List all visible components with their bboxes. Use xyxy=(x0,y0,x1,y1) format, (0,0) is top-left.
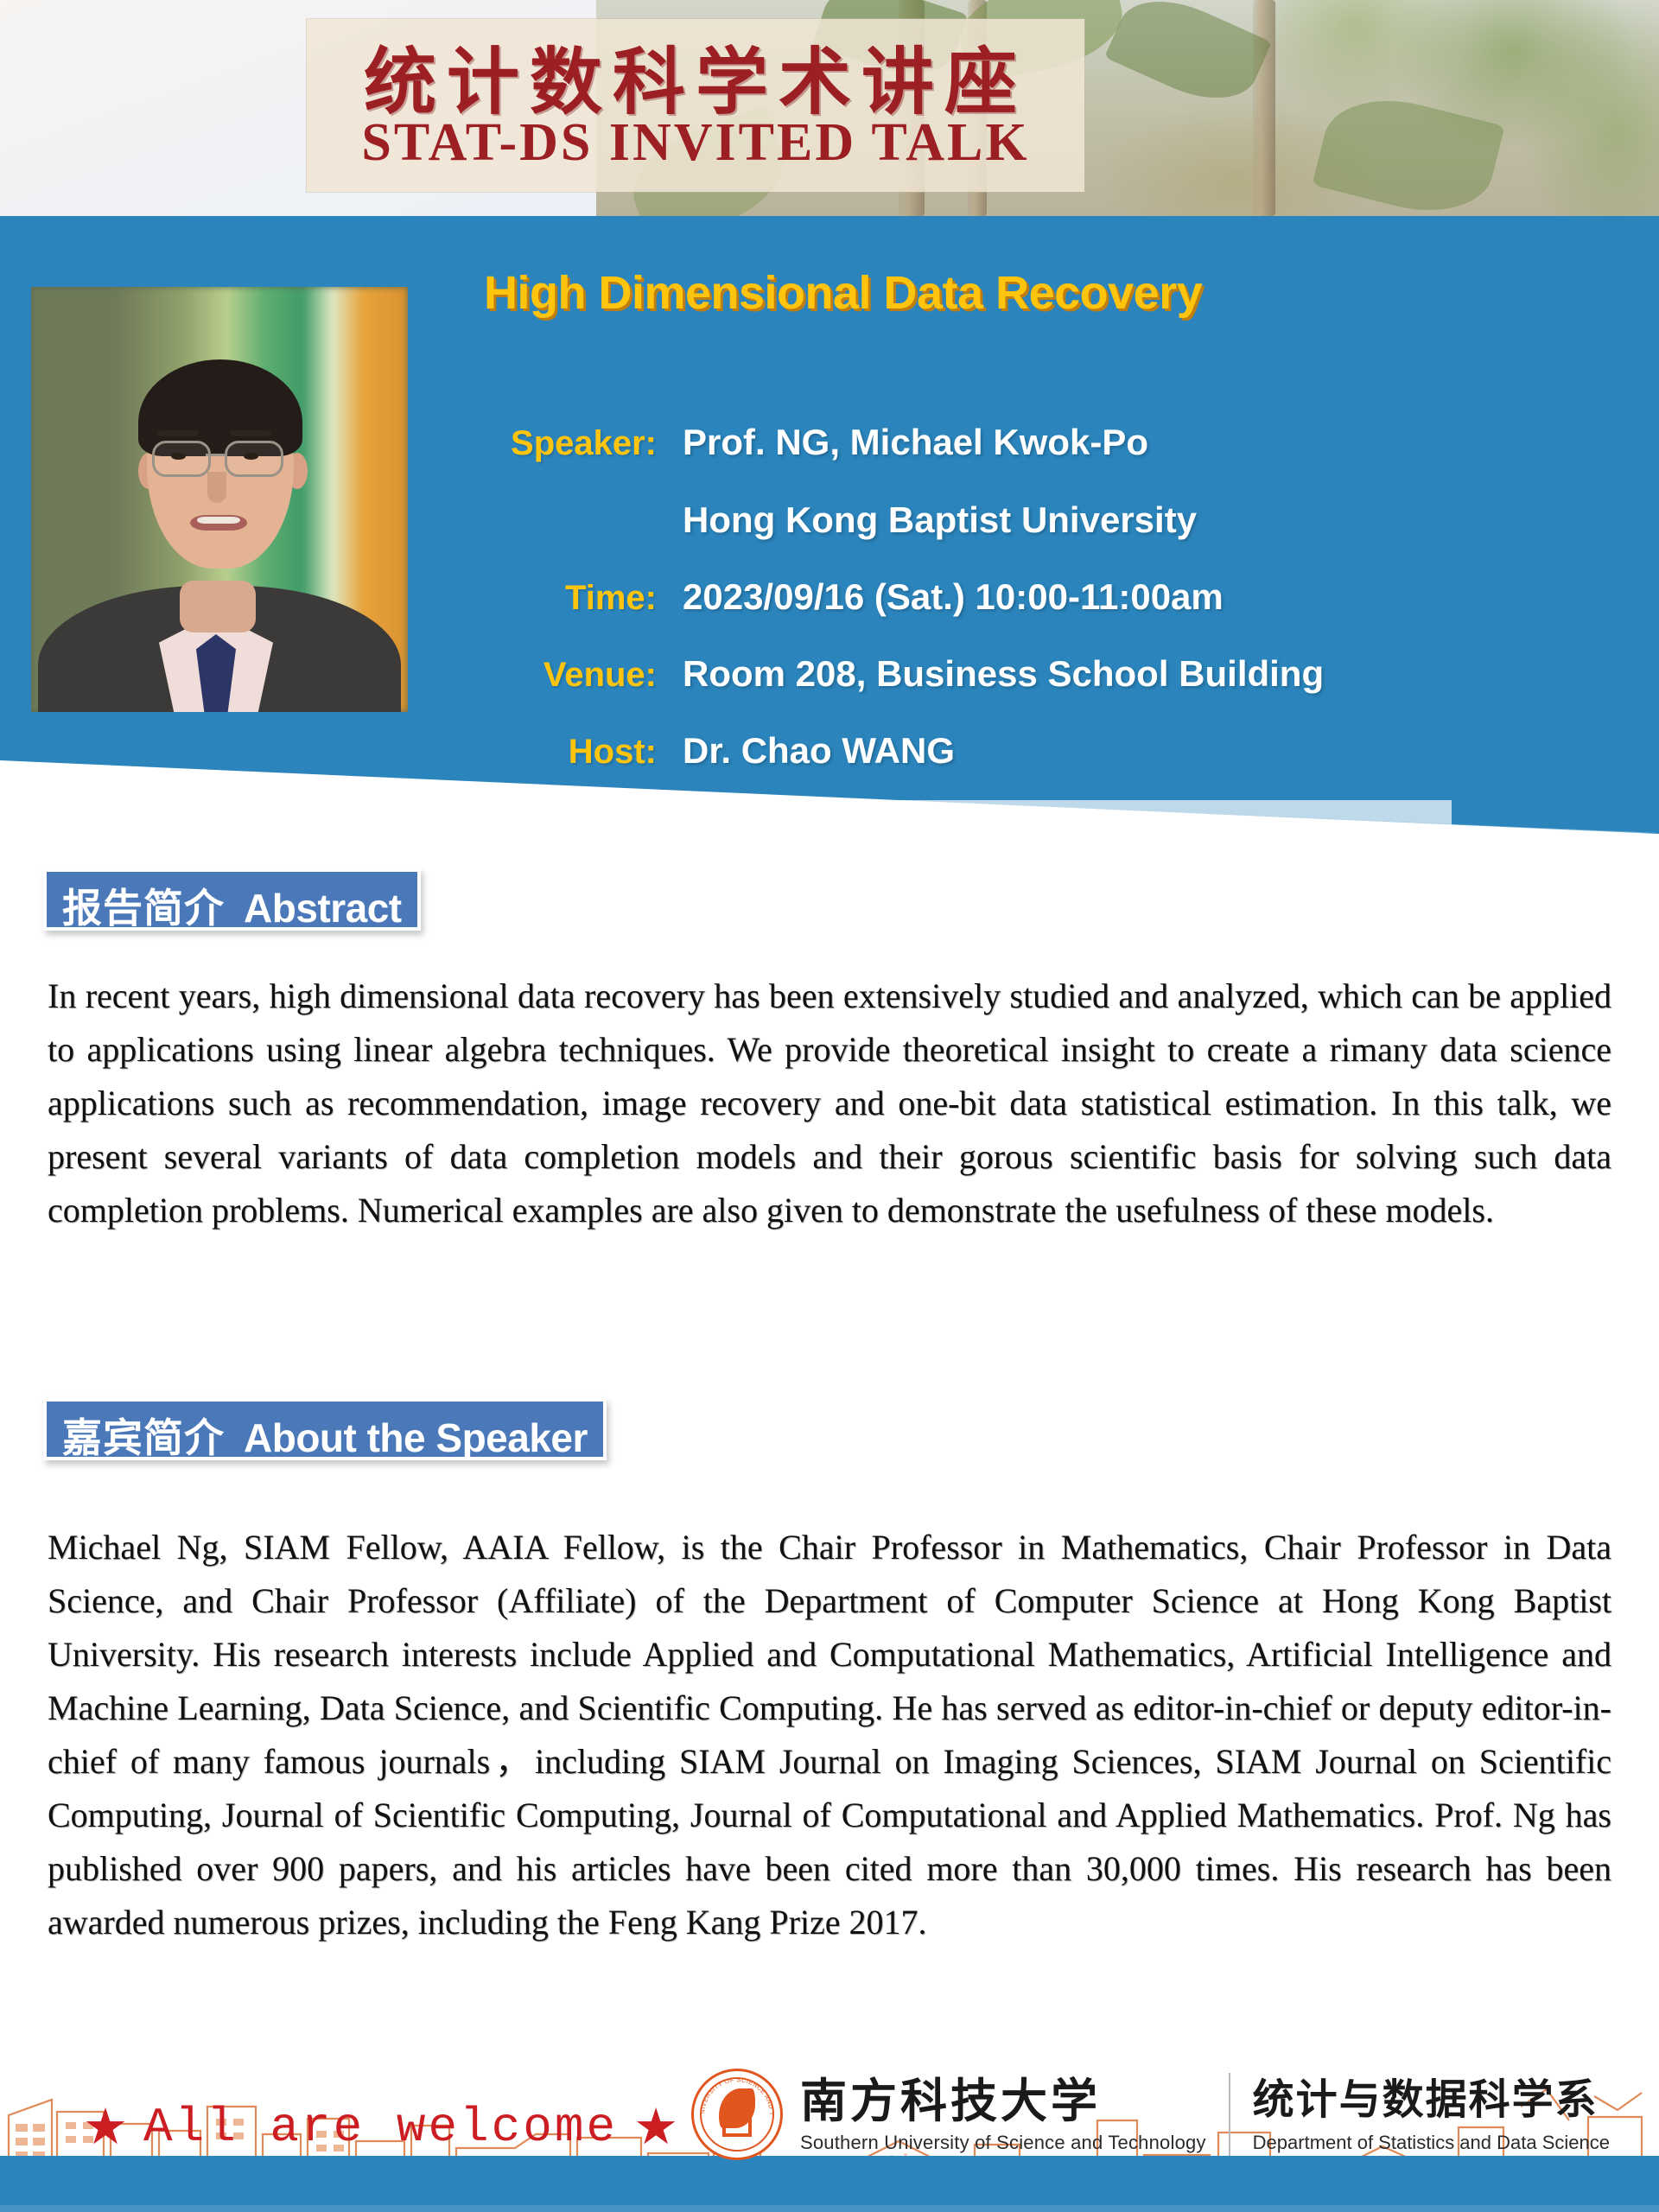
detail-row-time: Time: 2023/09/16 (Sat.) 10:00-11:00am xyxy=(484,561,1642,634)
speaker-section-heading: 嘉宾简介About the Speaker xyxy=(43,1398,607,1460)
sustech-seal-logo: SOUTHERN UNIVERSITY OF SCIENCE AND TECHN… xyxy=(691,2069,783,2160)
department-name-chinese: 统计与数据科学系 xyxy=(1253,2075,1610,2125)
footer-blue-bar xyxy=(0,2156,1659,2212)
speaker-heading-chinese: 嘉宾简介 xyxy=(62,1414,225,1461)
detail-row-speaker: Speaker: Prof. NG, Michael Kwok-Po xyxy=(484,406,1642,480)
abstract-body-text: In recent years, high dimensional data r… xyxy=(48,969,1611,1237)
university-branding: SOUTHERN UNIVERSITY OF SCIENCE AND TECHN… xyxy=(691,2067,1610,2162)
department-name-english: Department of Statistics and Data Scienc… xyxy=(1253,2132,1610,2154)
detail-row-venue: Venue: Room 208, Business School Buildin… xyxy=(484,638,1642,711)
department-name-block: 统计与数据科学系 Department of Statistics and Da… xyxy=(1253,2075,1610,2154)
university-name-chinese: 南方科技大学 xyxy=(800,2075,1206,2126)
detail-row-host: Host: Dr. Chao WANG xyxy=(484,715,1642,788)
abstract-section-heading: 报告简介Abstract xyxy=(43,868,421,931)
detail-label-time: Time: xyxy=(484,562,683,634)
detail-value-host: Dr. Chao WANG xyxy=(683,715,955,787)
abstract-heading-chinese: 报告简介 xyxy=(62,885,225,931)
detail-row-affiliation: Hong Kong Baptist University xyxy=(484,483,1642,557)
svg-text:SOUTHERN UNIVERSITY OF SCIENCE: SOUTHERN UNIVERSITY OF SCIENCE AND TECHN… xyxy=(694,2071,774,2116)
banner-title-plate: 统计数科学术讲座 STAT-DS INVITED TALK xyxy=(307,19,1084,192)
detail-value-affiliation: Hong Kong Baptist University xyxy=(683,483,1197,557)
speaker-body-text: Michael Ng, SIAM Fellow, AAIA Fellow, is… xyxy=(48,1521,1611,1949)
seal-ring-text: SOUTHERN UNIVERSITY OF SCIENCE AND TECHN… xyxy=(694,2071,780,2158)
star-icon-right: ★ xyxy=(633,2102,678,2152)
speaker-heading-english: About the Speaker xyxy=(244,1415,588,1460)
detail-label-speaker: Speaker: xyxy=(484,407,683,480)
star-icon-left: ★ xyxy=(83,2102,128,2152)
all-are-welcome-line: ★ All are welcome ★ xyxy=(83,2100,678,2155)
top-banner: 统计数科学术讲座 STAT-DS INVITED TALK xyxy=(0,0,1659,216)
talk-title: High Dimensional Data Recovery xyxy=(484,266,1202,320)
detail-value-speaker-name: Prof. NG, Michael Kwok-Po xyxy=(683,406,1148,479)
abstract-heading-english: Abstract xyxy=(244,886,402,931)
brand-divider xyxy=(1229,2073,1230,2156)
speaker-portrait-photo xyxy=(31,287,408,712)
detail-label-host: Host: xyxy=(484,715,683,788)
welcome-text: All are welcome xyxy=(143,2100,618,2155)
banner-title-english: STAT-DS INVITED TALK xyxy=(307,112,1084,174)
university-name-block: 南方科技大学 Southern University of Science an… xyxy=(800,2075,1206,2154)
detail-label-venue: Venue: xyxy=(484,639,683,711)
detail-value-time: 2023/09/16 (Sat.) 10:00-11:00am xyxy=(683,561,1224,633)
brand-text-block: 南方科技大学 Southern University of Science an… xyxy=(800,2073,1610,2156)
university-name-english: Southern University of Science and Techn… xyxy=(800,2132,1206,2154)
talk-details: Speaker: Prof. NG, Michael Kwok-Po Hong … xyxy=(484,406,1642,791)
detail-value-venue: Room 208, Business School Building xyxy=(683,638,1324,710)
